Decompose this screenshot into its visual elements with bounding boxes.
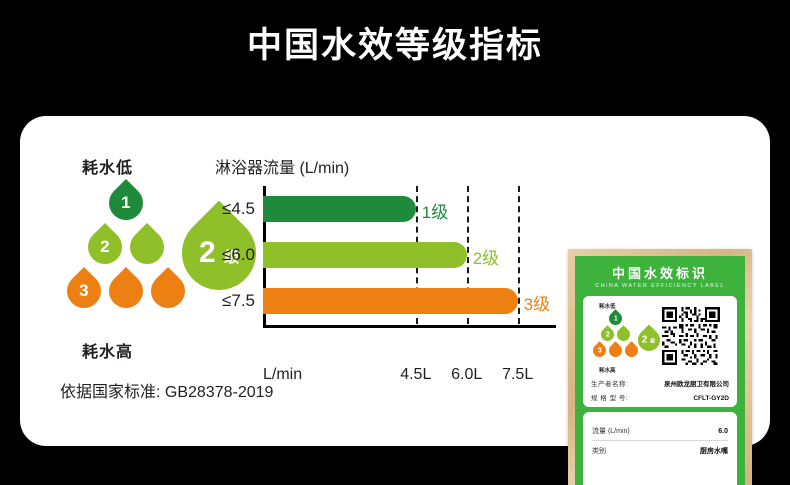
droplet-grade-1-number: 1 — [121, 193, 130, 213]
label-selected-grade-number: 2 — [642, 334, 648, 345]
label-row-category: 类别 厨房水嘴 — [592, 441, 728, 460]
chart-title: 淋浴器流量 (L/min) — [215, 154, 349, 178]
chart-bar-label-grade-2: 2级 — [473, 244, 499, 269]
droplet-grade-2-number: 2 — [100, 237, 109, 257]
qr-code-icon — [660, 305, 722, 367]
label-row-manufacturer-key: 生产者名称: — [591, 378, 628, 388]
water-efficiency-label-card: 中国水效标识 CHINA WATER EFFICIENCY LABEL 耗水低 … — [568, 249, 752, 485]
chart-bar-grade-2 — [263, 242, 467, 268]
page-title: 中国水效等级指标 — [0, 24, 790, 68]
droplet-grade-3-filler-a — [102, 267, 150, 315]
droplet-grade-1: 1 — [102, 179, 150, 227]
label-droplet-2-number: 2 — [606, 331, 610, 338]
label-row-flow: 流量 (L/min) 6.0 — [592, 421, 728, 441]
droplet-grade-3-number: 3 — [79, 281, 88, 301]
label-row-category-value: 厨房水嘴 — [700, 446, 728, 456]
label-top-row: 耗水低 1 2 3 — [591, 302, 729, 374]
chart-bar-label-grade-1: 1级 — [422, 198, 448, 223]
label-row-model-value: CFLT-GY2D — [693, 395, 729, 402]
label-mini-high: 耗水高 — [599, 366, 616, 374]
label-row-model-key: 规 格 型 号: — [591, 392, 628, 402]
label-title-en: CHINA WATER EFFICIENCY LABEL — [583, 282, 737, 291]
chart-ytick-1: ≤6.0 — [222, 245, 255, 265]
chart-xtick-4.5: 4.5L — [400, 366, 431, 384]
droplet-grade-3-filler-b — [144, 267, 192, 315]
chart-bar-grade-1 — [263, 196, 416, 222]
label-droplet-grade-3-filler-a — [606, 341, 624, 359]
page-root: 中国水效等级指标 耗水低 1 2 3 2 级 耗水高 — [0, 0, 790, 485]
label-droplet-1-number: 1 — [614, 315, 618, 322]
pyramid-label-high: 耗水高 — [82, 338, 133, 362]
chart-bar-label-grade-3: 3级 — [524, 290, 550, 315]
chart-xtick-7.5: 7.5L — [502, 366, 533, 384]
chart-gridline-7.5 — [518, 186, 520, 324]
water-efficiency-label-inner: 中国水效标识 CHINA WATER EFFICIENCY LABEL 耗水低 … — [575, 256, 745, 485]
label-row-flow-value: 6.0 — [718, 428, 728, 435]
droplet-grade-2-filler — [123, 223, 171, 271]
droplet-grade-3: 3 — [60, 267, 108, 315]
label-header: 中国水效标识 CHINA WATER EFFICIENCY LABEL — [583, 263, 737, 291]
pyramid-label-low: 耗水低 — [82, 154, 133, 178]
chart-ytick-0: ≤4.5 — [222, 199, 255, 219]
chart-ytick-2: ≤7.5 — [222, 291, 255, 311]
label-row-flow-key: 流量 (L/min) — [592, 426, 630, 436]
droplet-grade-2: 2 — [81, 223, 129, 271]
label-title-cn: 中国水效标识 — [583, 266, 737, 282]
chart-plot-area: ≤4.5 1级 ≤6.0 2级 ≤7.5 3级 L/min 4.5L 6.0L … — [263, 186, 555, 324]
flow-rate-chart: 淋浴器流量 (L/min) ≤4.5 1级 ≤6.0 2级 ≤7.5 3级 L/… — [210, 154, 570, 369]
label-droplet-grade-3: 3 — [590, 341, 608, 359]
label-row-category-key: 类别 — [592, 446, 606, 456]
label-top-panel: 耗水低 1 2 3 — [583, 296, 737, 407]
label-selected-grade-suffix: 级 — [651, 338, 656, 344]
chart-bar-grade-3 — [263, 288, 518, 314]
content-card: 耗水低 1 2 3 2 级 耗水高 淋浴器流量 (L/min — [20, 116, 770, 446]
label-mini-pyramid: 耗水低 1 2 3 — [591, 302, 657, 374]
label-droplet-3-number: 3 — [598, 347, 602, 354]
label-bottom-panel: 流量 (L/min) 6.0 类别 厨房水嘴 — [583, 412, 737, 485]
label-row-manufacturer: 生产者名称: 泉州欧龙厨卫有限公司 — [591, 378, 729, 388]
label-row-manufacturer-value: 泉州欧龙厨卫有限公司 — [664, 378, 729, 388]
chart-x-axis — [263, 325, 556, 328]
label-mini-low: 耗水低 — [599, 302, 616, 310]
label-row-model: 规 格 型 号: CFLT-GY2D — [591, 392, 729, 402]
national-standard-note: 依据国家标准: GB28378-2019 — [60, 378, 273, 402]
chart-xtick-6.0: 6.0L — [451, 366, 482, 384]
